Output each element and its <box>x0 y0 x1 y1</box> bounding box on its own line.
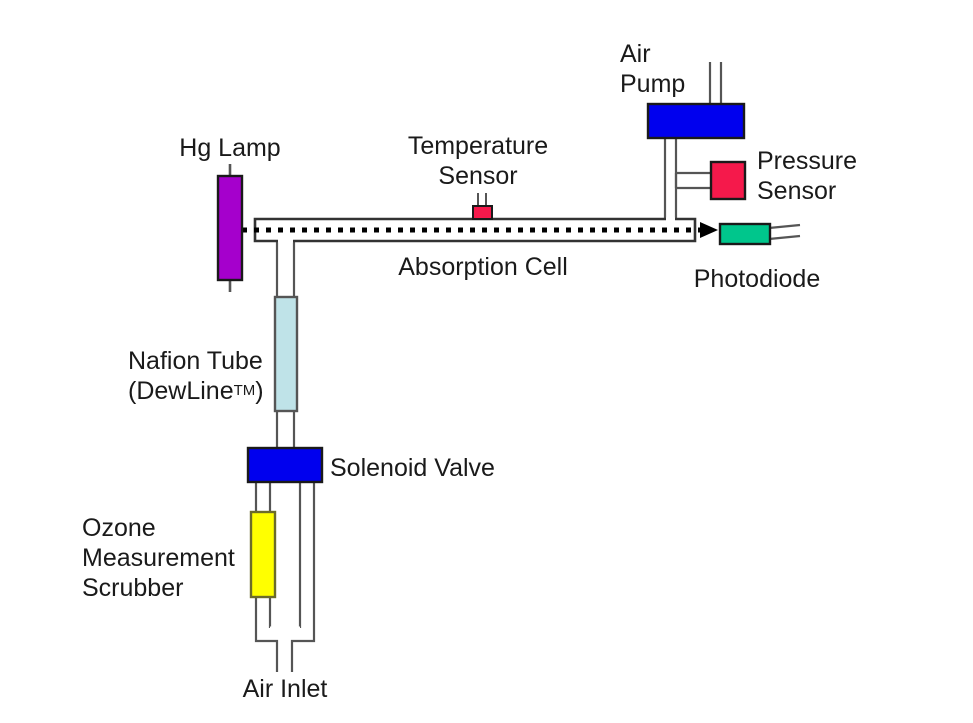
air-pump <box>648 104 744 138</box>
pump-intake-tube <box>665 137 676 219</box>
beam-arrowhead <box>700 222 718 238</box>
hg-lamp-label: Hg Lamp <box>130 133 330 163</box>
photodiode-leads <box>769 225 800 239</box>
nafion-tube-label: Nafion Tube(DewLineTM) <box>128 346 308 406</box>
air-inlet-label: Air Inlet <box>185 674 385 704</box>
solenoid-valve <box>248 448 322 482</box>
photodiode <box>720 224 770 244</box>
photodiode-label: Photodiode <box>687 264 827 294</box>
temperature-sensor-label: Temperature Sensor <box>378 131 578 191</box>
absorption-cell-label: Absorption Cell <box>383 252 583 282</box>
temperature-sensor <box>473 206 492 219</box>
pressure-sensor-label: Pressure Sensor <box>757 146 937 206</box>
inlet-manifold <box>256 628 314 672</box>
ozone-scrubber-label: Ozone Measurement Scrubber <box>82 513 292 603</box>
diagram-canvas: Hg Lamp Temperature Sensor Air Pump Pres… <box>0 0 973 723</box>
hg-lamp <box>218 164 242 292</box>
nafion-tube-label-line1: Nafion Tube <box>128 347 263 375</box>
pressure-sensor-tap <box>676 173 712 188</box>
solenoid-valve-label: Solenoid Valve <box>330 453 560 483</box>
nafion-tube-label-line2-suffix: ) <box>255 377 263 405</box>
air-pump-label: Air Pump <box>620 39 760 99</box>
trademark-symbol: TM <box>234 382 256 399</box>
bypass-branch-tube <box>300 481 314 628</box>
pressure-sensor <box>711 162 745 199</box>
nafion-tube-label-line2-prefix: (DewLine <box>128 377 234 405</box>
